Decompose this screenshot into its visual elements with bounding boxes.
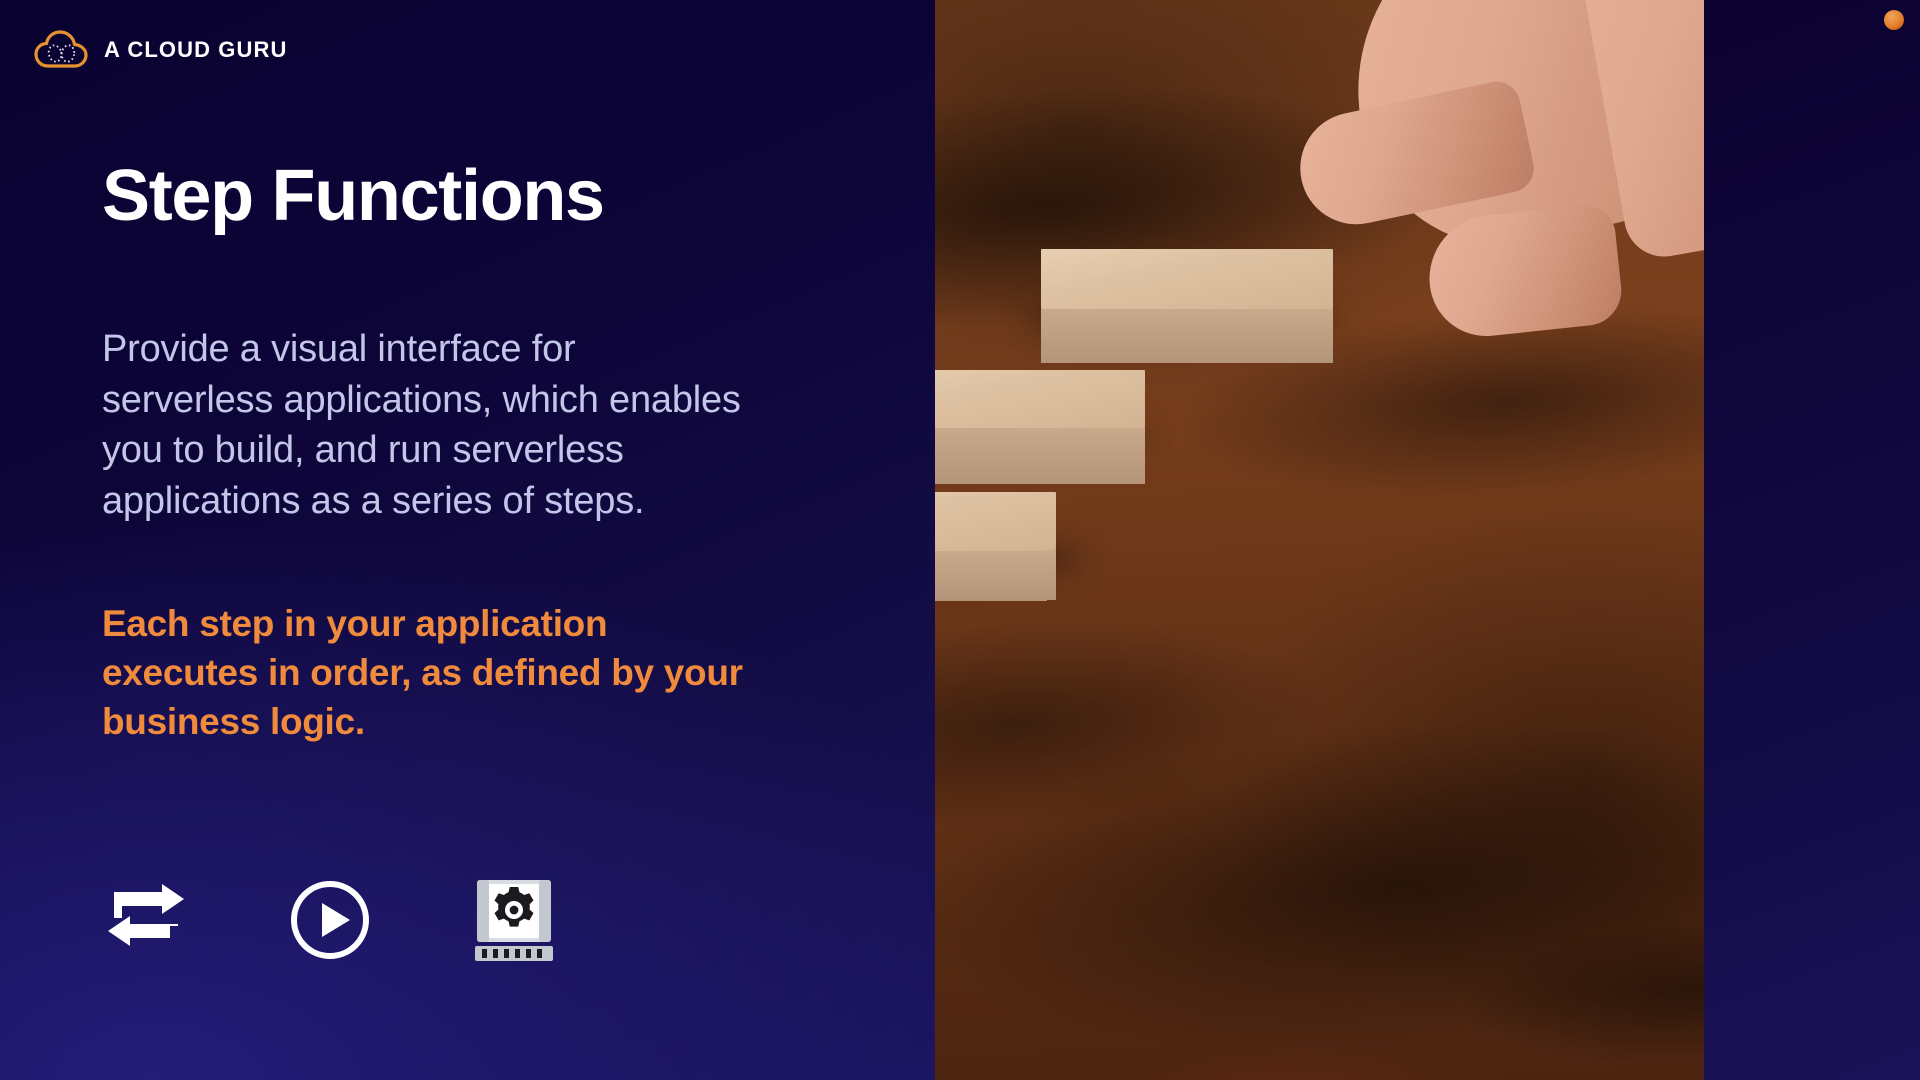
callout-text: Each step in your application executes i… [102, 600, 762, 746]
right-panel [1704, 0, 1920, 1080]
recording-indicator [1884, 10, 1904, 30]
block-top-face [935, 495, 1047, 551]
brand-name: A CLOUD GURU [104, 37, 288, 63]
icon-row [102, 872, 558, 968]
block-front-face [935, 428, 1145, 484]
cloud-guru-logo-icon [34, 28, 90, 72]
block-top-face [935, 370, 1145, 428]
blueprint-gear-icon[interactable] [470, 872, 558, 968]
loop-repeat-icon[interactable] [102, 872, 190, 968]
slide-root: A CLOUD GURU Step Functions Provide a vi… [0, 0, 1920, 1080]
page-title: Step Functions [102, 160, 604, 232]
wood-block-step-2 [935, 370, 1145, 428]
hand [1233, 0, 1704, 480]
block-front-face [935, 551, 1047, 601]
wood-block-long-low [935, 495, 1047, 551]
wooden-blocks-steps-photo [935, 0, 1704, 1080]
brand-logo[interactable]: A CLOUD GURU [34, 28, 288, 72]
lead-paragraph: Provide a visual interface for serverles… [102, 324, 742, 526]
play-circle-icon[interactable] [286, 872, 374, 968]
